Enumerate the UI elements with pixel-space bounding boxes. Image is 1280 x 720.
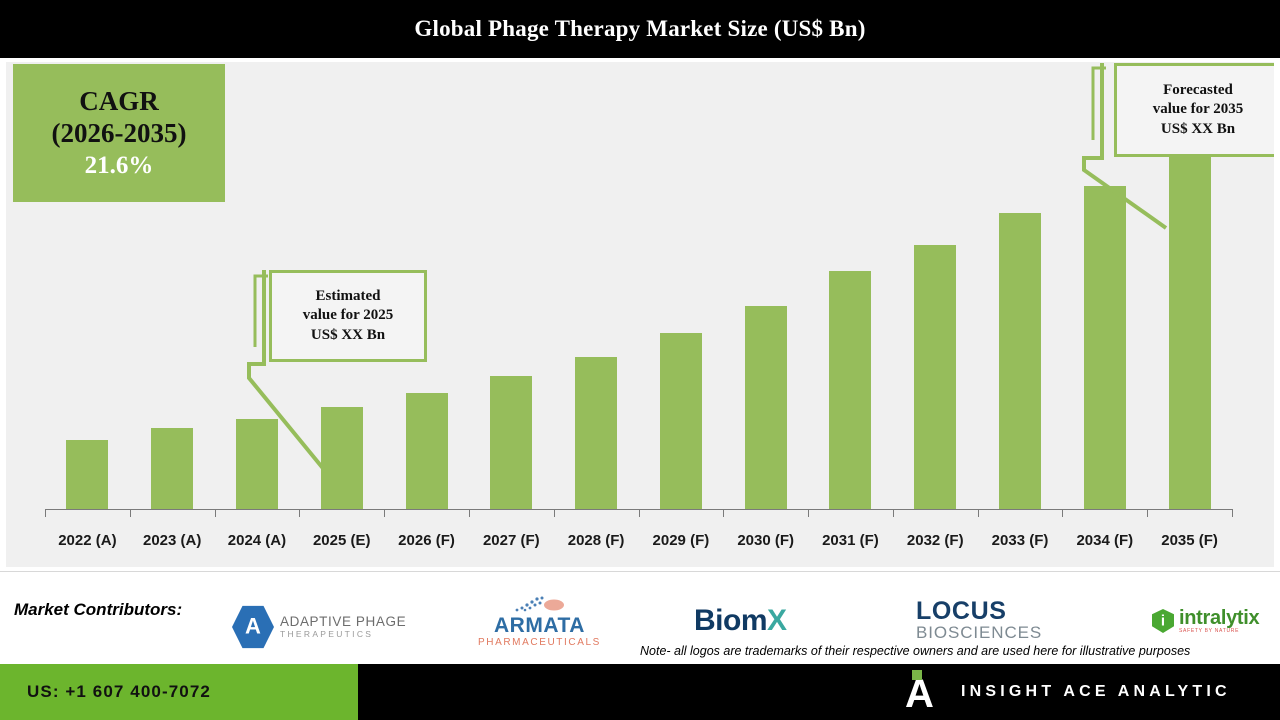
forecasted-callout-line3: US$ XX Bn xyxy=(1161,120,1235,139)
logo-armata-pharmaceuticals: ARMATA PHARMACEUTICALS xyxy=(478,596,601,650)
estimated-callout-line3: US$ XX Bn xyxy=(311,326,385,345)
logo-intralytix: intralytix SAFETY BY NATURE xyxy=(1152,608,1259,634)
estimated-callout-line1: Estimated xyxy=(316,287,381,306)
logo-biomx: Biom X xyxy=(694,606,787,636)
forecasted-callout-line2: value for 2035 xyxy=(1153,100,1244,119)
brand-square-accent xyxy=(912,670,922,680)
adaptive-phage-subtitle: THERAPEUTICS xyxy=(280,630,406,639)
locus-name: LOCUS xyxy=(916,598,1007,624)
chart-panel: CAGR (2026-2035) 21.6% 2022 (A)2023 (A)2… xyxy=(0,58,1280,571)
brand-lockup: A INSIGHT ACE ANALYTIC xyxy=(905,664,1231,720)
trademark-note: Note- all logos are trademarks of their … xyxy=(640,644,1280,660)
brand-letter: A xyxy=(905,676,934,713)
bar-chart: CAGR (2026-2035) 21.6% 2022 (A)2023 (A)2… xyxy=(6,62,1274,567)
header-bar: Global Phage Therapy Market Size (US$ Bn… xyxy=(0,0,1280,58)
brand-name: INSIGHT ACE ANALYTIC xyxy=(961,683,1231,701)
locus-subtitle: BIOSCIENCES xyxy=(916,624,1042,643)
biomx-name-part1: Biom xyxy=(694,606,767,636)
forecasted-callout-leader xyxy=(6,62,1274,567)
logo-adaptive-phage-therapeutics: ADAPTIVE PHAGE THERAPEUTICS xyxy=(232,605,406,649)
intralytix-name: intralytix xyxy=(1179,608,1259,628)
estimated-value-callout: Estimated value for 2025 US$ XX Bn xyxy=(269,270,427,362)
armata-subtitle: PHARMACEUTICALS xyxy=(478,636,601,650)
adaptive-phage-hex-icon xyxy=(232,605,274,649)
logo-locus-biosciences: LOCUS BIOSCIENCES xyxy=(916,598,1042,643)
phone-number: US: +1 607 400-7072 xyxy=(27,682,211,702)
forecasted-callout-line1: Forecasted xyxy=(1163,81,1233,100)
armata-name: ARMATA xyxy=(494,615,585,636)
page-title: Global Phage Therapy Market Size (US$ Bn… xyxy=(414,16,865,42)
biomx-name-part2: X xyxy=(767,606,787,636)
footer-bar: US: +1 607 400-7072 A INSIGHT ACE ANALYT… xyxy=(0,664,1280,720)
insight-ace-logo-icon: A xyxy=(905,671,939,713)
intralytix-tagline: SAFETY BY NATURE xyxy=(1179,629,1259,634)
forecasted-value-callout: Forecasted value for 2035 US$ XX Bn xyxy=(1114,63,1274,157)
adaptive-phage-name: ADAPTIVE PHAGE xyxy=(280,615,406,629)
intralytix-hex-icon xyxy=(1152,609,1174,633)
contact-banner: US: +1 607 400-7072 xyxy=(0,664,358,720)
estimated-callout-line2: value for 2025 xyxy=(303,306,394,325)
contributors-label: Market Contributors: xyxy=(14,600,182,620)
armata-swoosh-icon xyxy=(509,596,569,614)
